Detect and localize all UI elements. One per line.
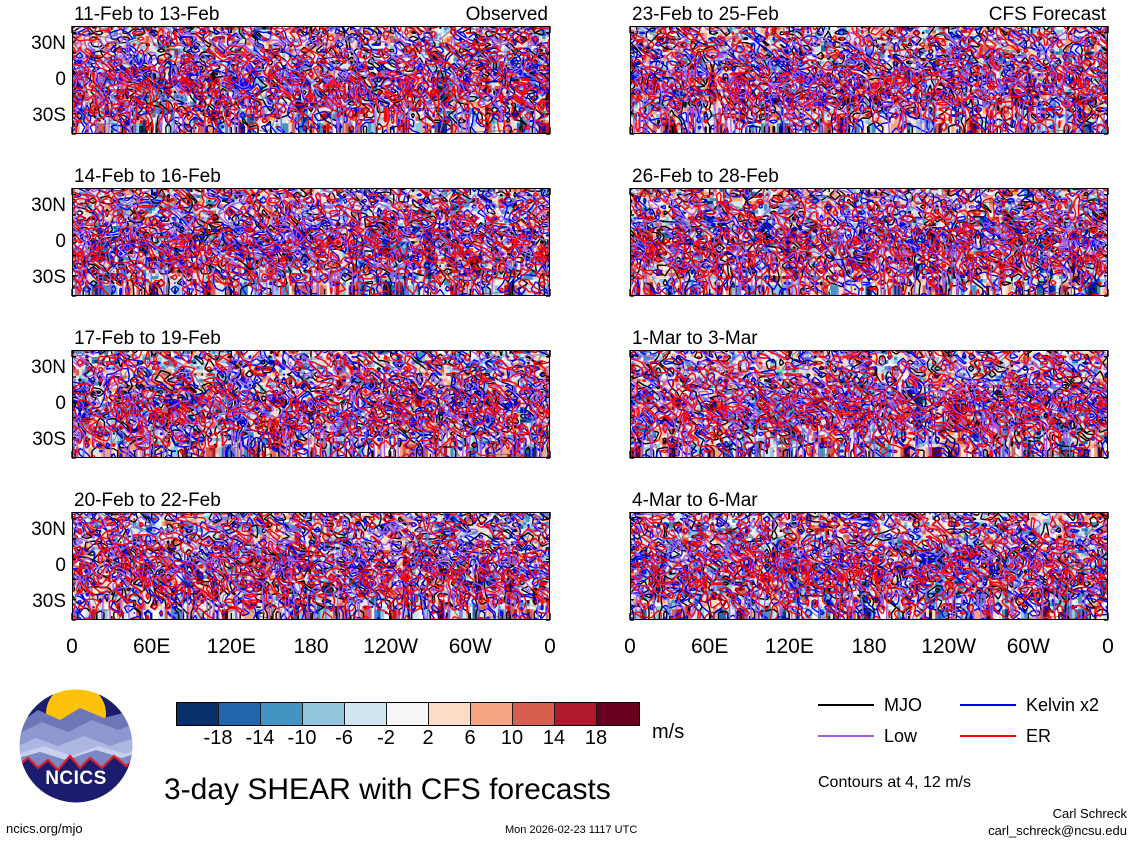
shear-field [73, 27, 549, 133]
shear-field [631, 513, 1107, 619]
colorbar-tick-6: 6 [440, 728, 500, 748]
author-name: Carl Schreck [1053, 806, 1127, 821]
timestamp: Mon 2026-02-23 1117 UTC [505, 824, 637, 836]
shear-field [73, 513, 549, 619]
colorbar-tick-8: 14 [524, 728, 584, 748]
ncics-logo-label: NCICS [18, 768, 134, 790]
x-tick-1-3: 180 [829, 636, 909, 657]
author-email: carl_schreck@ncsu.edu [988, 823, 1127, 838]
site-url: ncics.org/mjo [6, 822, 83, 836]
colorbar-unit-label: m/s [652, 722, 684, 742]
contour-note: Contours at 4, 12 m/s [818, 775, 971, 791]
colorbar-tick-3: -6 [314, 728, 374, 748]
colorbar-tick-9: 18 [566, 728, 626, 748]
x-tick-0-1: 60E [112, 636, 192, 657]
x-tick-0-4: 120W [351, 636, 431, 657]
colorbar-tick-4: -2 [356, 728, 416, 748]
y-tick-p3-0: 30N [4, 358, 66, 377]
legend-label-er: ER [1026, 727, 1051, 745]
y-tick-p1-1: 0 [4, 70, 66, 89]
y-tick-p1-0: 30N [4, 34, 66, 53]
ncics-logo: NCICS [18, 688, 134, 804]
panel-title-p6: 26-Feb to 28-Feb [632, 167, 779, 186]
main-title: 3-day SHEAR with CFS forecasts [164, 775, 611, 805]
colorbar-segment-10 [597, 703, 639, 725]
legend-label-mjo: MJO [884, 696, 922, 714]
colorbar-segment-5 [387, 703, 429, 725]
x-tick-1-1: 60E [670, 636, 750, 657]
x-tick-0-2: 120E [191, 636, 271, 657]
column-header-left: Observed [466, 5, 548, 24]
x-tick-0-3: 180 [271, 636, 351, 657]
legend-label-low: Low [884, 727, 917, 745]
x-tick-0-5: 60W [430, 636, 510, 657]
map-p1 [72, 26, 550, 134]
colorbar-segment-0 [177, 703, 219, 725]
y-tick-p4-0: 30N [4, 520, 66, 539]
legend-swatch-kelvin-x2 [960, 704, 1016, 706]
colorbar-strip [176, 702, 640, 726]
colorbar-tick-1: -14 [230, 728, 290, 748]
y-tick-p2-0: 30N [4, 196, 66, 215]
legend-swatch-mjo [818, 704, 874, 706]
y-tick-p2-1: 0 [4, 232, 66, 251]
legend-swatch-low [818, 735, 874, 737]
panel-title-p4: 20-Feb to 22-Feb [74, 491, 221, 510]
colorbar-segment-4 [345, 703, 387, 725]
x-tick-1-0: 0 [590, 636, 670, 657]
x-tick-1-6: 0 [1068, 636, 1135, 657]
colorbar-segment-1 [219, 703, 261, 725]
map-p8 [630, 512, 1108, 620]
x-tick-0-0: 0 [32, 636, 112, 657]
y-tick-p2-2: 30S [4, 268, 66, 287]
legend-label-kelvin-x2: Kelvin x2 [1026, 696, 1099, 714]
shear-field [73, 189, 549, 295]
colorbar-segment-8 [513, 703, 555, 725]
panel-title-p1: 11-Feb to 13-Feb [74, 5, 219, 24]
y-tick-p4-1: 0 [4, 556, 66, 575]
colorbar-tick-2: -10 [272, 728, 332, 748]
panel-title-p5: 23-Feb to 25-Feb [632, 5, 779, 24]
colorbar-segment-6 [429, 703, 471, 725]
x-tick-1-4: 120W [909, 636, 989, 657]
colorbar-tick-0: -18 [188, 728, 248, 748]
legend-swatch-er [960, 735, 1016, 737]
colorbar-tick-5: 2 [398, 728, 458, 748]
map-p2 [72, 188, 550, 296]
map-p4 [72, 512, 550, 620]
panel-title-p7: 1-Mar to 3-Mar [632, 329, 758, 348]
map-p5 [630, 26, 1108, 134]
map-p7 [630, 350, 1108, 458]
panel-title-p2: 14-Feb to 16-Feb [74, 167, 221, 186]
panel-title-p8: 4-Mar to 6-Mar [632, 491, 758, 510]
y-tick-p3-2: 30S [4, 430, 66, 449]
colorbar-segment-9 [555, 703, 597, 725]
shear-field [73, 351, 549, 457]
map-p3 [72, 350, 550, 458]
panel-title-p3: 17-Feb to 19-Feb [74, 329, 221, 348]
x-tick-0-6: 0 [510, 636, 590, 657]
shear-field [631, 351, 1107, 457]
x-tick-1-5: 60W [988, 636, 1068, 657]
y-tick-p4-2: 30S [4, 592, 66, 611]
map-p6 [630, 188, 1108, 296]
column-header-right: CFS Forecast [989, 5, 1106, 24]
x-tick-1-2: 120E [749, 636, 829, 657]
shear-field [631, 27, 1107, 133]
y-tick-p1-2: 30S [4, 106, 66, 125]
colorbar-tick-7: 10 [482, 728, 542, 748]
y-tick-p3-1: 0 [4, 394, 66, 413]
shear-field [631, 189, 1107, 295]
colorbar-segment-7 [471, 703, 513, 725]
colorbar-segment-2 [261, 703, 303, 725]
colorbar-segment-3 [303, 703, 345, 725]
